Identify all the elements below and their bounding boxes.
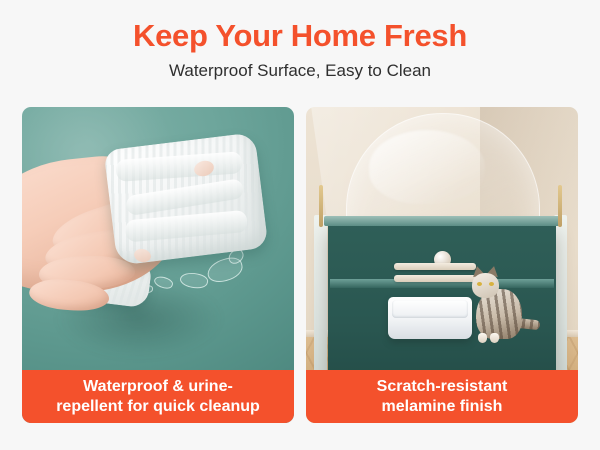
caption-bar-scratch-resistant: Scratch-resistant melamine finish [306, 370, 578, 423]
page-title: Keep Your Home Fresh [0, 0, 600, 55]
door-handle [558, 185, 562, 227]
litter-tray-lid [392, 300, 468, 318]
cat-paw [490, 333, 499, 343]
wood-slat [394, 275, 476, 282]
cabinet-top [324, 216, 560, 226]
cat-paw [478, 333, 487, 343]
feature-panel-waterproof: Waterproof & urine- repellent for quick … [22, 107, 294, 423]
litter-tray [388, 297, 472, 339]
promo-banner: Keep Your Home Fresh Waterproof Surface,… [0, 0, 600, 450]
wood-slat [394, 263, 476, 270]
towel-fold [125, 210, 248, 243]
caption-text: Scratch-resistant melamine finish [369, 377, 516, 417]
caption-bar-waterproof: Waterproof & urine- repellent for quick … [22, 370, 294, 423]
door-handle [319, 185, 323, 227]
cat-eye [489, 282, 494, 286]
arch-gloss [369, 130, 485, 204]
towel-fold [115, 151, 242, 182]
towel-fold [125, 178, 245, 216]
header: Keep Your Home Fresh Waterproof Surface,… [0, 0, 600, 100]
feature-panel-scratch-resistant: Scratch-resistant melamine finish [306, 107, 578, 423]
feature-panels: Waterproof & urine- repellent for quick … [22, 107, 578, 423]
caption-text: Waterproof & urine- repellent for quick … [48, 377, 268, 417]
cat-head [472, 273, 499, 298]
page-subtitle: Waterproof Surface, Easy to Clean [0, 55, 600, 82]
cleaning-towel [103, 132, 268, 266]
cat-eye [477, 282, 482, 286]
